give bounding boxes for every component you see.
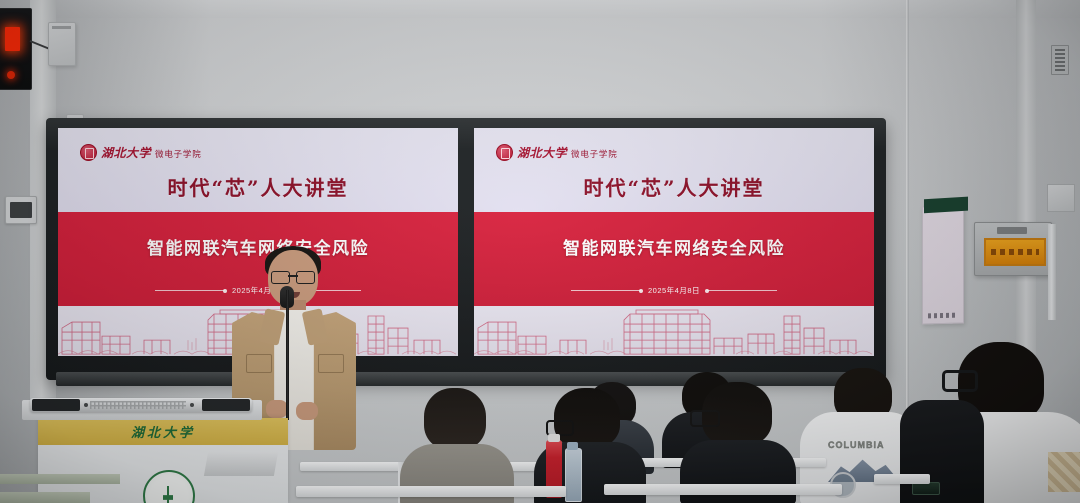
plaid-sleeve-pattern xyxy=(1048,452,1080,492)
bottle-cap-red xyxy=(548,434,560,442)
glasses-lens-right xyxy=(296,271,315,284)
title-slide-right: 湖北大学 微电子学院 时代“芯”人大讲堂 智能网联汽车网络安全风险 2025年4… xyxy=(474,128,874,356)
attendee-head xyxy=(554,388,620,448)
slide-brand-name: 湖北大学 xyxy=(101,144,151,161)
speaker-mic-dot-right xyxy=(190,403,194,407)
slide-brand-lockup: 湖北大学 微电子学院 xyxy=(80,144,202,161)
desk-edge-green-front xyxy=(0,492,90,503)
front-bench-rail-far xyxy=(874,474,930,484)
slide-series-heading: 时代“芯”人大讲堂 xyxy=(474,172,874,201)
notice-poster xyxy=(922,205,964,324)
speaker-endcap-left xyxy=(32,399,80,411)
bottle-cap-clear xyxy=(567,442,578,450)
wall-speaker xyxy=(1051,45,1069,75)
front-bench-rail-right xyxy=(604,484,842,495)
alarm-display-face xyxy=(984,238,1046,266)
speaker-grille xyxy=(90,401,186,409)
led-clock-display xyxy=(0,8,32,90)
right-display[interactable]: 湖北大学 微电子学院 时代“芯”人大讲堂 智能网联汽车网络安全风险 2025年4… xyxy=(474,128,874,356)
campus-skyline-illustration xyxy=(474,306,874,356)
speaker-mic-dot-left xyxy=(84,403,88,407)
glasses-lens-left xyxy=(271,271,290,284)
date-rule-left xyxy=(155,290,225,291)
glasses-icon xyxy=(942,370,978,392)
display-wall-assembly: 湖北大学 微电子学院 时代“芯”人大讲堂 智能网联汽车网络安全风险 2025年4… xyxy=(46,118,886,380)
slide-brand-name: 湖北大学 xyxy=(517,144,567,161)
podium-band-text: 湖北大学 xyxy=(131,422,195,441)
fire-alarm-cabinet[interactable] xyxy=(974,222,1052,276)
alarm-label xyxy=(997,227,1027,234)
slide-brand-department: 微电子学院 xyxy=(571,148,618,161)
podium-name-band: 湖北大学 xyxy=(38,418,288,445)
conduit-pipe xyxy=(1048,224,1056,320)
slide-series-heading: 时代“芯”人大讲堂 xyxy=(58,172,458,201)
poster-footer-text xyxy=(928,313,958,319)
slide-brand-department: 微电子学院 xyxy=(155,148,202,161)
poster-header-band xyxy=(924,197,968,214)
led-segment-icon xyxy=(5,27,20,51)
slide-lecture-title: 智能网联汽车网络安全风险 xyxy=(474,234,874,259)
slide-date-row: 2025年4月8日 xyxy=(474,285,874,296)
water-bottle-clear[interactable] xyxy=(565,448,582,502)
slide-brand-lockup: 湖北大学 微电子学院 xyxy=(496,144,618,161)
presenter-hand-right xyxy=(296,402,318,420)
light-switch-panel[interactable] xyxy=(5,196,37,224)
podium-laptop xyxy=(204,452,278,476)
university-seal-icon xyxy=(496,144,513,161)
university-seal-icon xyxy=(80,144,97,161)
date-rule-left xyxy=(571,290,641,291)
podium-speaker-bar xyxy=(30,398,252,412)
date-rule-right xyxy=(707,290,777,291)
led-indicator-icon xyxy=(7,71,15,79)
wall-control-box-right xyxy=(1047,184,1075,212)
slide-footer-band xyxy=(474,306,874,356)
glasses-icon xyxy=(690,410,720,427)
microphone-stand xyxy=(286,290,289,420)
lecture-hall-photo: 湖北大学 微电子学院 时代“芯”人大讲堂 智能网联汽车网络安全风险 2025年4… xyxy=(0,0,1080,503)
jacket-pocket-right xyxy=(318,354,344,373)
attendee-head xyxy=(424,388,486,450)
hoodie-brand-text: COLUMBIA xyxy=(828,440,885,450)
front-bench-rail-left xyxy=(296,486,566,497)
speaker-endcap-right xyxy=(202,399,250,411)
presenter-hand-left xyxy=(266,400,288,418)
wall-junction-box xyxy=(48,22,76,66)
slide-date: 2025年4月8日 xyxy=(648,285,700,296)
desk-edge-green-left xyxy=(0,474,120,484)
podium-emblem-icon xyxy=(143,470,195,503)
glasses-icon xyxy=(271,271,315,282)
jacket-pocket-left xyxy=(246,354,272,373)
